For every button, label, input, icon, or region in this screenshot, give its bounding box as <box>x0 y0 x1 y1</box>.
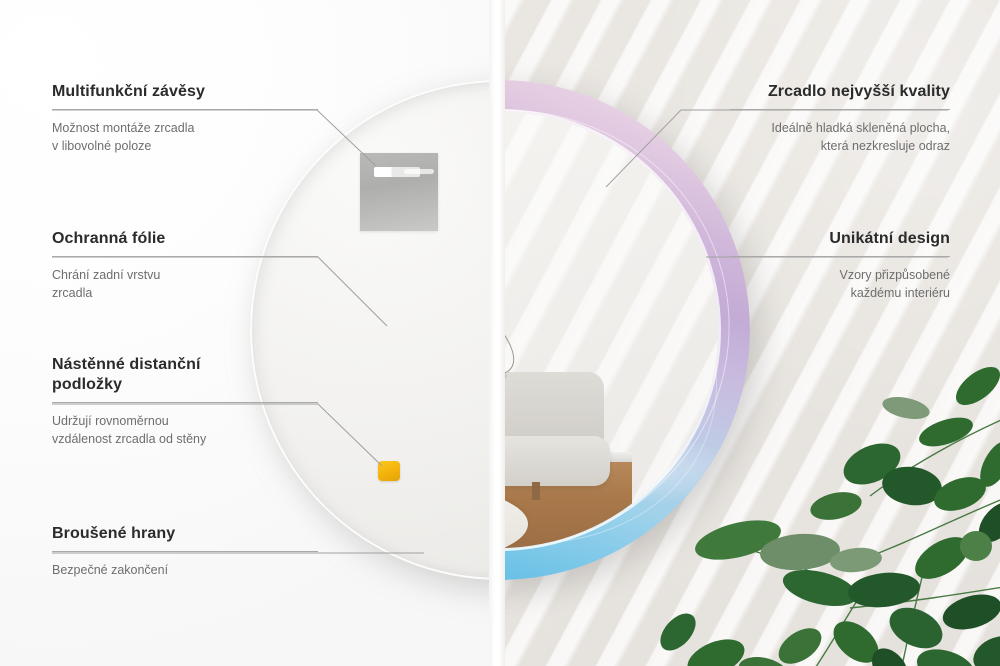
callout-description: Chrání zadní vrstvu zrcadla <box>52 266 318 302</box>
callout-desc-line-1: Ideálně hladká skleněná plocha, <box>771 121 950 135</box>
callout-description: Ideálně hladká skleněná plocha, která ne… <box>730 119 950 155</box>
callout-desc-line-1: Vzory přizpůsobené <box>840 268 950 282</box>
callout-ochranna-folie: Ochranná fólie Chrání zadní vrstvu zrcad… <box>52 229 318 302</box>
callout-multifunkcni-zavesy: Multifunkční závěsy Možnost montáže zrca… <box>52 82 318 155</box>
callout-nastenne-distancni-podlozky: Nástěnné distanční podložky Udržují rovn… <box>52 355 318 448</box>
callout-rule <box>52 402 318 403</box>
callout-desc-line-2: vzdálenost zrcadla od stěny <box>52 432 206 446</box>
callout-desc-line-2: každému interiéru <box>851 286 950 300</box>
callout-description: Bezpečné zakončení <box>52 561 318 579</box>
callout-title: Zrcadlo nejvyšší kvality <box>730 82 950 102</box>
callout-description: Možnost montáže zrcadla v libovolné polo… <box>52 119 318 155</box>
callout-title: Broušené hrany <box>52 524 318 544</box>
callout-unikatni-design: Unikátní design Vzory přizpůsobené každé… <box>730 229 950 302</box>
callout-rule <box>52 109 318 110</box>
callout-rule <box>52 551 318 552</box>
eucalyptus-branch-icon <box>660 346 1000 666</box>
reflected-sofa-leg <box>532 482 540 500</box>
callout-title-line-2: podložky <box>52 376 122 393</box>
callout-desc-line-2: která nezkresluje odraz <box>821 139 950 153</box>
callout-desc-line-1: Udržují rovnoměrnou <box>52 414 169 428</box>
callout-title: Nástěnné distanční podložky <box>52 355 318 395</box>
split-seam <box>489 0 505 666</box>
callout-desc-line-1: Chrání zadní vrstvu <box>52 268 160 282</box>
callout-title-line-1: Nástěnné distanční <box>52 356 201 373</box>
callout-rule <box>52 256 318 257</box>
callout-rule <box>730 109 950 110</box>
callout-title: Ochranná fólie <box>52 229 318 249</box>
callout-description: Vzory přizpůsobené každému interiéru <box>730 266 950 302</box>
callout-zrcadlo-nejvyssi-kvality: Zrcadlo nejvyšší kvality Ideálně hladká … <box>730 82 950 155</box>
callout-rule <box>730 256 950 257</box>
callout-desc-line-1: Možnost montáže zrcadla <box>52 121 194 135</box>
callout-title: Unikátní design <box>730 229 950 249</box>
callout-desc-line-2: v libovolné poloze <box>52 139 151 153</box>
callout-title: Multifunkční závěsy <box>52 82 318 102</box>
callout-brousene-hrany: Broušené hrany Bezpečné zakončení <box>52 524 318 579</box>
callout-description: Udržují rovnoměrnou vzdálenost zrcadla o… <box>52 412 318 448</box>
callout-desc-line-2: zrcadla <box>52 286 92 300</box>
infographic-stage: Multifunkční závěsy Možnost montáže zrca… <box>0 0 1000 666</box>
callout-desc-line-1: Bezpečné zakončení <box>52 563 168 577</box>
